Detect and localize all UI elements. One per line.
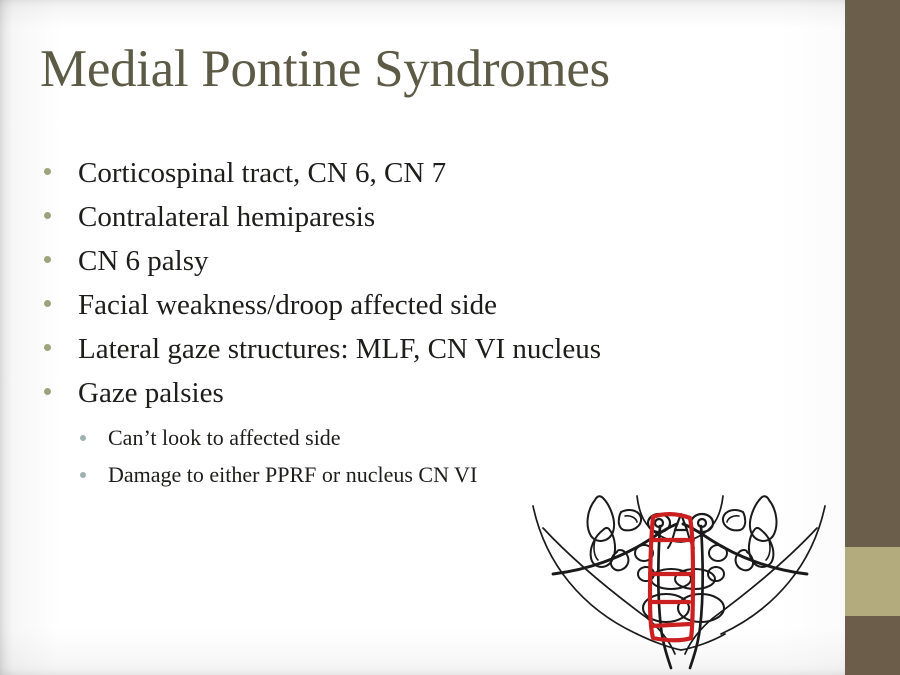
list-item-label: CN 6 palsy [78, 240, 209, 282]
list-item-label: Corticospinal tract, CN 6, CN 7 [78, 152, 446, 194]
sub-bullet-dot-icon [80, 435, 86, 441]
list-item-label: Lateral gaze structures: MLF, CN VI nucl… [78, 328, 601, 370]
bullet-dot-icon [44, 212, 51, 219]
list-item-label: Gaze palsies [78, 372, 224, 414]
list-item-label: Facial weakness/droop affected side [78, 284, 497, 326]
list-item: Contralateral hemiparesis [44, 196, 824, 240]
sub-bullet-dot-icon [80, 472, 86, 478]
bullet-dot-icon [44, 300, 51, 307]
list-item: Gaze palsies [44, 372, 824, 416]
brainstem-diagram-svg [525, 478, 845, 675]
page-title: Medial Pontine Syndromes [40, 42, 800, 98]
sub-list-item: Can’t look to affected side [80, 422, 780, 459]
bullet-list: Corticospinal tract, CN 6, CN 7 Contrala… [44, 152, 824, 416]
side-band-upper-dark [845, 0, 900, 547]
list-item: Corticospinal tract, CN 6, CN 7 [44, 152, 824, 196]
brainstem-diagram [525, 478, 845, 675]
list-item: Lateral gaze structures: MLF, CN VI nucl… [44, 328, 824, 372]
list-item: Facial weakness/droop affected side [44, 284, 824, 328]
bullet-dot-icon [44, 344, 51, 351]
bullet-dot-icon [44, 168, 51, 175]
decorative-side-bands [845, 0, 900, 675]
bullet-dot-icon [44, 256, 51, 263]
slide: Medial Pontine Syndromes Corticospinal t… [0, 0, 900, 675]
bullet-dot-icon [44, 388, 51, 395]
sub-list-item-label: Can’t look to affected side [108, 422, 341, 454]
list-item: CN 6 palsy [44, 240, 824, 284]
side-band-lower-dark [845, 616, 900, 675]
list-item-label: Contralateral hemiparesis [78, 196, 375, 238]
sub-list-item-label: Damage to either PPRF or nucleus CN VI [108, 459, 477, 491]
side-band-middle-khaki [845, 547, 900, 616]
